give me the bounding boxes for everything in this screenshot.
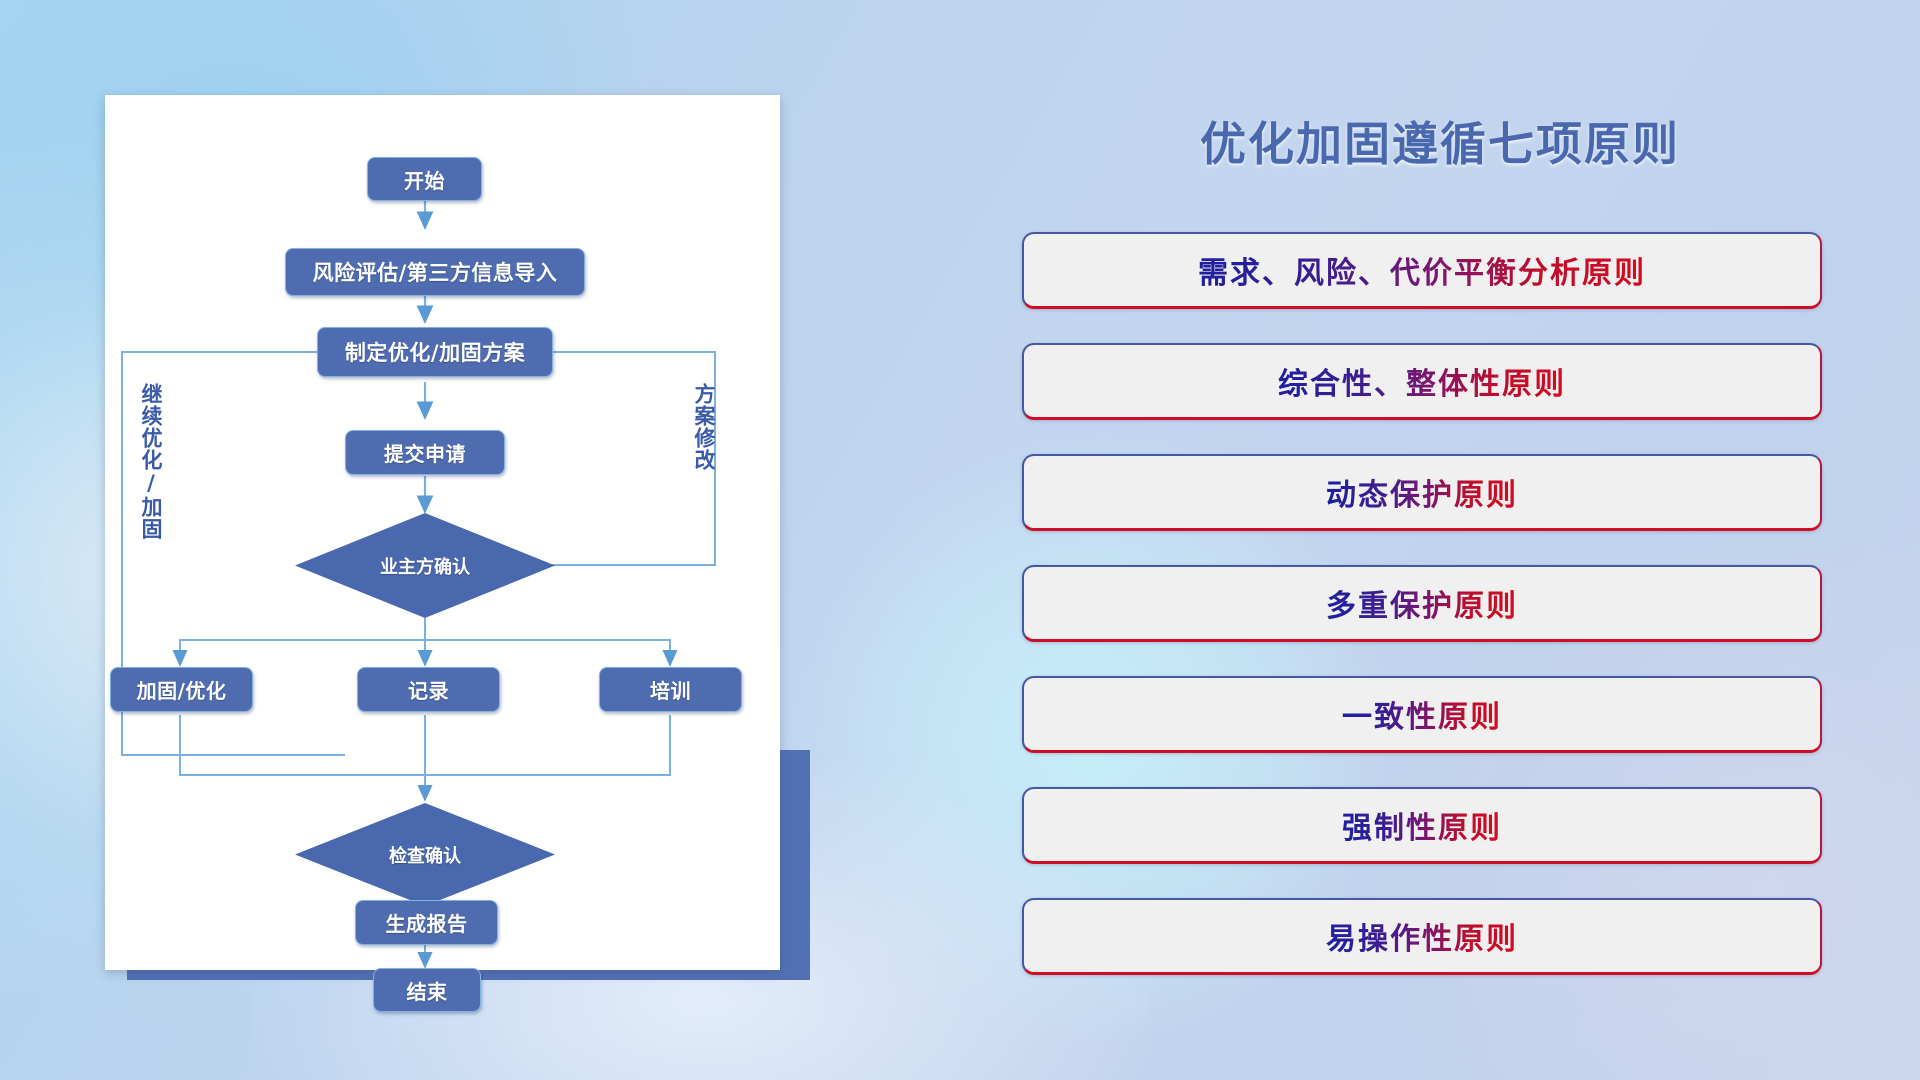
flow-node-record-label: 记录 (408, 675, 449, 704)
principle-card[interactable]: 易操作性原则 (1022, 898, 1822, 975)
flow-node-risk-assessment-label: 风险评估/第三方信息导入 (313, 257, 558, 287)
flow-node-training-label: 培训 (650, 675, 691, 704)
flow-node-end-label: 结束 (407, 976, 448, 1005)
principle-card-label: 需求、风险、代价平衡分析原则 (1198, 248, 1646, 292)
flow-node-training[interactable]: 培训 (599, 667, 742, 712)
flow-node-reinforce-optimize-label: 加固/优化 (137, 675, 227, 704)
principle-card[interactable]: 多重保护原则 (1022, 565, 1822, 642)
principle-card-label: 多重保护原则 (1326, 581, 1518, 625)
flow-node-generate-report[interactable]: 生成报告 (355, 900, 498, 945)
principles-list: 需求、风险、代价平衡分析原则 综合性、整体性原则 动态保护原则 多重保护原则 一… (1022, 232, 1822, 1009)
principle-card-label: 综合性、整体性原则 (1278, 359, 1566, 403)
flow-node-owner-confirmation-label: 业主方确认 (380, 553, 470, 579)
flow-node-start-label: 开始 (404, 165, 445, 194)
principle-card[interactable]: 一致性原则 (1022, 676, 1822, 753)
flow-node-reinforce-optimize[interactable]: 加固/优化 (110, 667, 253, 712)
principle-card-label: 动态保护原则 (1326, 470, 1518, 514)
flow-node-plan[interactable]: 制定优化/加固方案 (317, 327, 553, 377)
flow-node-generate-report-label: 生成报告 (386, 908, 468, 937)
flow-node-start[interactable]: 开始 (367, 157, 482, 201)
flow-node-owner-confirmation[interactable]: 业主方确认 (295, 513, 555, 618)
principle-card-label: 一致性原则 (1342, 692, 1502, 736)
flow-node-plan-label: 制定优化/加固方案 (345, 337, 525, 367)
flow-node-record[interactable]: 记录 (357, 667, 500, 712)
flowchart-panel: 开始 风险评估/第三方信息导入 制定优化/加固方案 提交申请 业主方确认 加固/… (105, 95, 780, 970)
flow-edge-label-continue-optimize: 继续优化/加固 (140, 383, 161, 563)
flow-node-inspection-confirmation-label: 检查确认 (389, 842, 461, 868)
principle-card-label: 强制性原则 (1342, 803, 1502, 847)
flow-edge-label-plan-revision: 方案修改 (693, 383, 714, 523)
flow-node-risk-assessment[interactable]: 风险评估/第三方信息导入 (285, 248, 585, 296)
flow-node-submit-application[interactable]: 提交申请 (345, 430, 505, 475)
flow-node-submit-application-label: 提交申请 (384, 438, 466, 467)
principle-card[interactable]: 动态保护原则 (1022, 454, 1822, 531)
slide-canvas: 开始 风险评估/第三方信息导入 制定优化/加固方案 提交申请 业主方确认 加固/… (0, 0, 1920, 1080)
principles-title: 优化加固遵循七项原则 (1020, 108, 1860, 174)
principle-card[interactable]: 需求、风险、代价平衡分析原则 (1022, 232, 1822, 309)
flow-node-end[interactable]: 结束 (373, 968, 481, 1012)
principle-card[interactable]: 综合性、整体性原则 (1022, 343, 1822, 420)
principle-card-label: 易操作性原则 (1326, 914, 1518, 958)
flow-node-inspection-confirmation[interactable]: 检查确认 (295, 803, 555, 906)
principle-card[interactable]: 强制性原则 (1022, 787, 1822, 864)
